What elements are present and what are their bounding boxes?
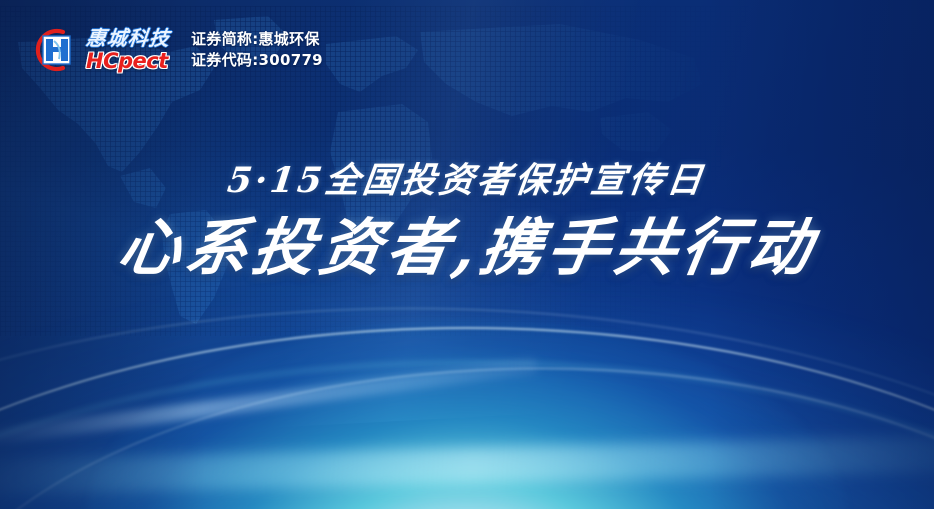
- banner-canvas: 惠城科技 HCpect 证券简称:惠城环保 证券代码:300779 5·15全国…: [0, 0, 934, 509]
- stock-code: 证券代码:300779: [191, 53, 323, 69]
- brand-wordmark: 惠城科技 HCpect: [86, 28, 170, 72]
- brand-name-cn: 惠城科技: [85, 28, 171, 48]
- stock-short-name: 证券简称:惠城环保: [191, 32, 323, 48]
- hc-circle-h-logo-icon: [33, 27, 79, 73]
- brand-header: 惠城科技 HCpect 证券简称:惠城环保 证券代码:300779: [33, 27, 323, 73]
- brand-name-en: HCpect: [86, 51, 170, 72]
- bottom-light-group: [0, 259, 934, 509]
- stock-info: 证券简称:惠城环保 证券代码:300779: [191, 32, 323, 69]
